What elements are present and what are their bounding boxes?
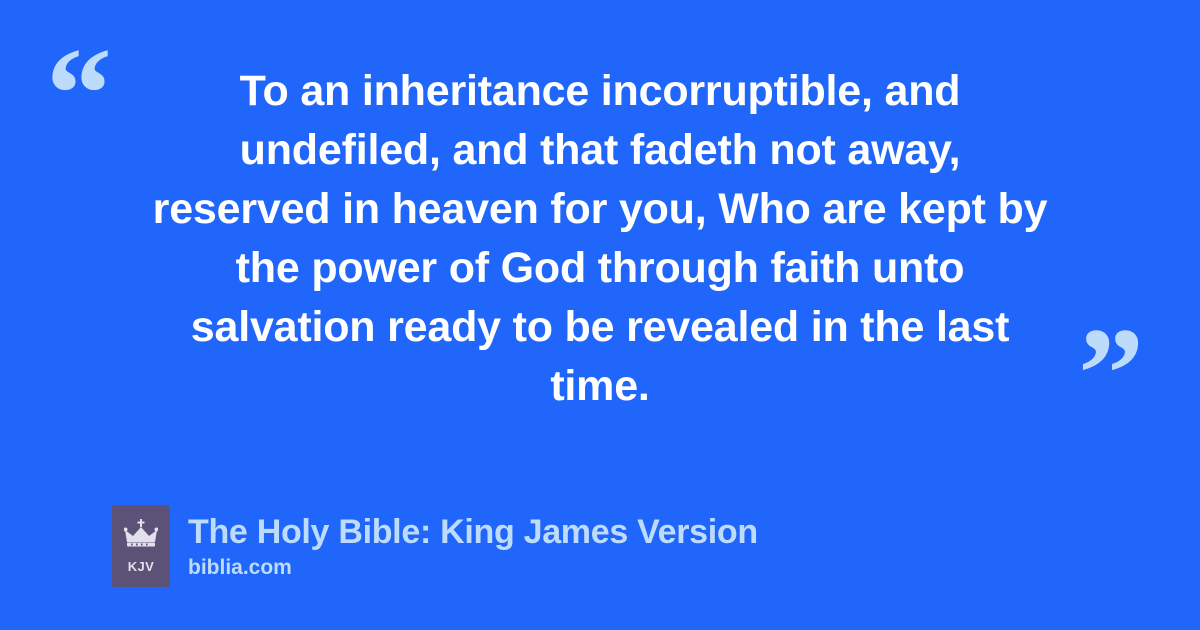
quote-line: To an inheritance incorruptible, and xyxy=(240,62,961,121)
quote-line: reserved in heaven for you, Who are kept… xyxy=(153,180,1048,239)
attribution-footer: KJV The Holy Bible: King James Version b… xyxy=(112,505,758,587)
kjv-logo-badge: KJV xyxy=(112,505,170,587)
quote-line: undefiled, and that fadeth not away, xyxy=(240,121,961,180)
quote-line: time. xyxy=(550,357,649,416)
quote-text-block: To an inheritance incorruptible, and und… xyxy=(110,62,1090,422)
quote-line: salvation ready to be revealed in the la… xyxy=(191,298,1009,357)
source-url[interactable]: biblia.com xyxy=(188,555,758,581)
quote-card: “ ” To an inheritance incorruptible, and… xyxy=(0,0,1200,630)
quote-line: the power of God through faith unto xyxy=(236,239,965,298)
logo-abbreviation: KJV xyxy=(128,560,155,573)
attribution-text: The Holy Bible: King James Version bibli… xyxy=(188,511,758,581)
bible-version-title: The Holy Bible: King James Version xyxy=(188,511,758,553)
open-quote-icon: “ xyxy=(46,28,112,160)
crown-icon xyxy=(124,519,158,554)
